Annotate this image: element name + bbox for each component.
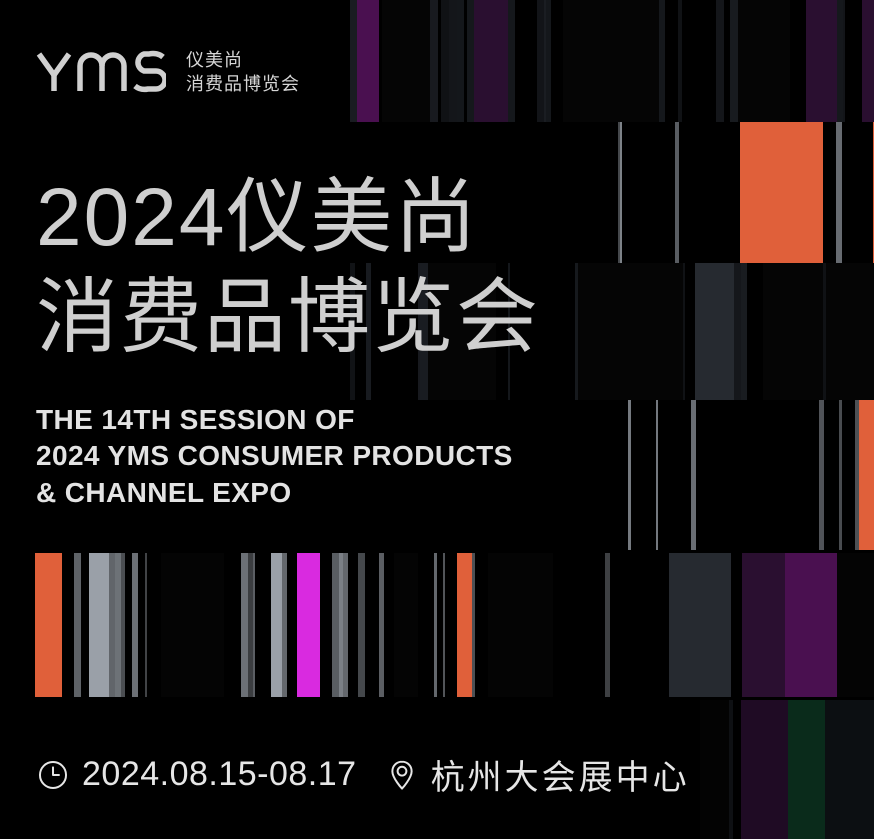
stripe-band-bottom xyxy=(35,553,874,697)
brand-cn-line-2: 消费品博览会 xyxy=(186,72,300,96)
stripe-band-bright-lower xyxy=(608,400,874,550)
brand-logo: 仪美尚 消费品博览会 xyxy=(36,44,300,100)
poster-subtitle: THE 14TH SESSION OF 2024 YMS CONSUMER PR… xyxy=(36,402,513,511)
headline-line-1: 2024仪美尚 xyxy=(36,168,540,268)
subtitle-line-2: 2024 YMS CONSUMER PRODUCTS xyxy=(36,438,513,474)
clock-icon xyxy=(36,758,82,792)
location-pin-icon xyxy=(385,758,431,792)
yms-wordmark-icon xyxy=(36,44,166,100)
poster-footer: 2024.08.15-08.17 杭州大会展中心 xyxy=(36,750,690,799)
headline-line-2: 消费品博览会 xyxy=(36,268,540,368)
stripe-band-bright-upper xyxy=(590,122,874,263)
brand-cn-line-1: 仪美尚 xyxy=(186,48,300,72)
poster-headline: 2024仪美尚 消费品博览会 xyxy=(36,168,540,368)
event-venue-text: 杭州大会展中心 xyxy=(431,750,690,799)
event-date: 2024.08.15-08.17 xyxy=(36,755,357,794)
stripe-band-top xyxy=(350,0,874,122)
event-date-text: 2024.08.15-08.17 xyxy=(82,755,357,794)
poster-canvas: 仪美尚 消费品博览会 2024仪美尚 消费品博览会 THE 14TH SESSI… xyxy=(0,0,874,839)
brand-chinese-name: 仪美尚 消费品博览会 xyxy=(186,48,300,97)
subtitle-line-1: THE 14TH SESSION OF xyxy=(36,402,513,438)
event-venue: 杭州大会展中心 xyxy=(385,750,690,799)
stripe-band-footer xyxy=(700,700,874,839)
subtitle-line-3: & CHANNEL EXPO xyxy=(36,475,513,511)
